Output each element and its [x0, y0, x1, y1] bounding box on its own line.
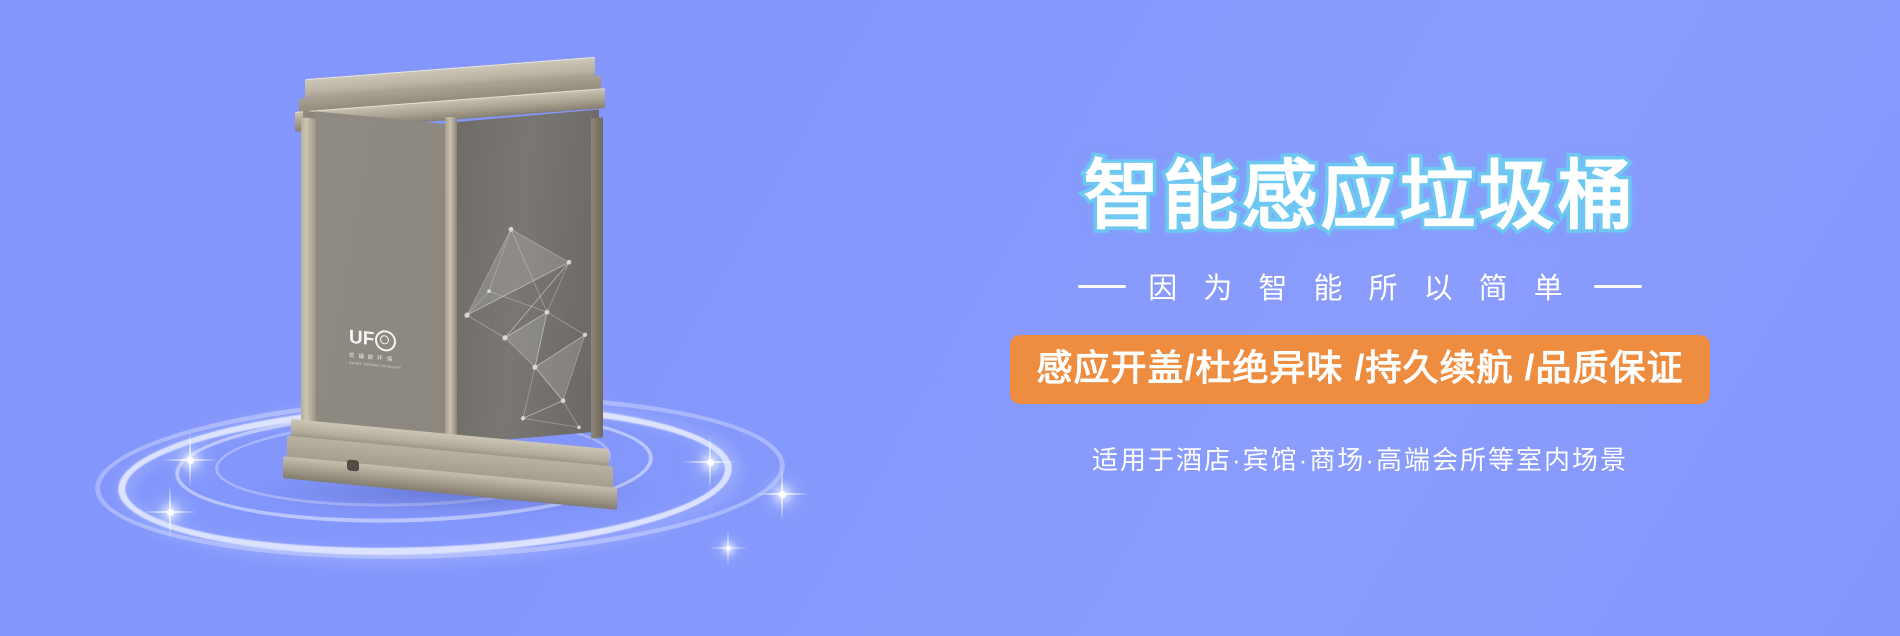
bin-frame-right-edge [591, 117, 603, 438]
subline-row: 因 为 智 能 所 以 简 单 [1078, 265, 1641, 307]
trash-bin-product-image: UF 优 福 欧 环 保 SMART SENSOR TRASH BIN [295, 68, 605, 498]
bin-body-left-face [315, 111, 453, 445]
subline-rule-right [1594, 285, 1642, 288]
bin-frame-center-edge [445, 117, 457, 439]
product-scene: UF 优 福 欧 环 保 SMART SENSOR TRASH BIN [0, 0, 820, 636]
logo-ring-icon [375, 329, 396, 352]
headline-title: 智能感应垃圾桶 [1084, 159, 1637, 235]
usage-scenario-text: 适用于酒店·宾馆·商场·高端会所等室内场景 [1092, 440, 1628, 477]
marketing-copy-block: 智能感应垃圾桶 因 为 智 能 所 以 简 单 感应开盖/杜绝异味 /持久续航 … [860, 0, 1860, 636]
product-promo-banner: UF 优 福 欧 环 保 SMART SENSOR TRASH BIN 智能感应… [0, 0, 1900, 636]
subline-text: 因 为 智 能 所 以 简 单 [1148, 265, 1571, 307]
bin-frame-left-edge [301, 117, 316, 440]
ufo-brand-logo: UF 优 福 欧 环 保 SMART SENSOR TRASH BIN [349, 327, 415, 371]
feature-highlight-badge: 感应开盖/杜绝异味 /持久续航 /品质保证 [1010, 335, 1709, 403]
bin-sensor-port [347, 459, 359, 471]
bin-body-right-panel [451, 110, 599, 445]
subline-rule-left [1078, 285, 1126, 288]
logo-letters: UF [349, 328, 374, 349]
